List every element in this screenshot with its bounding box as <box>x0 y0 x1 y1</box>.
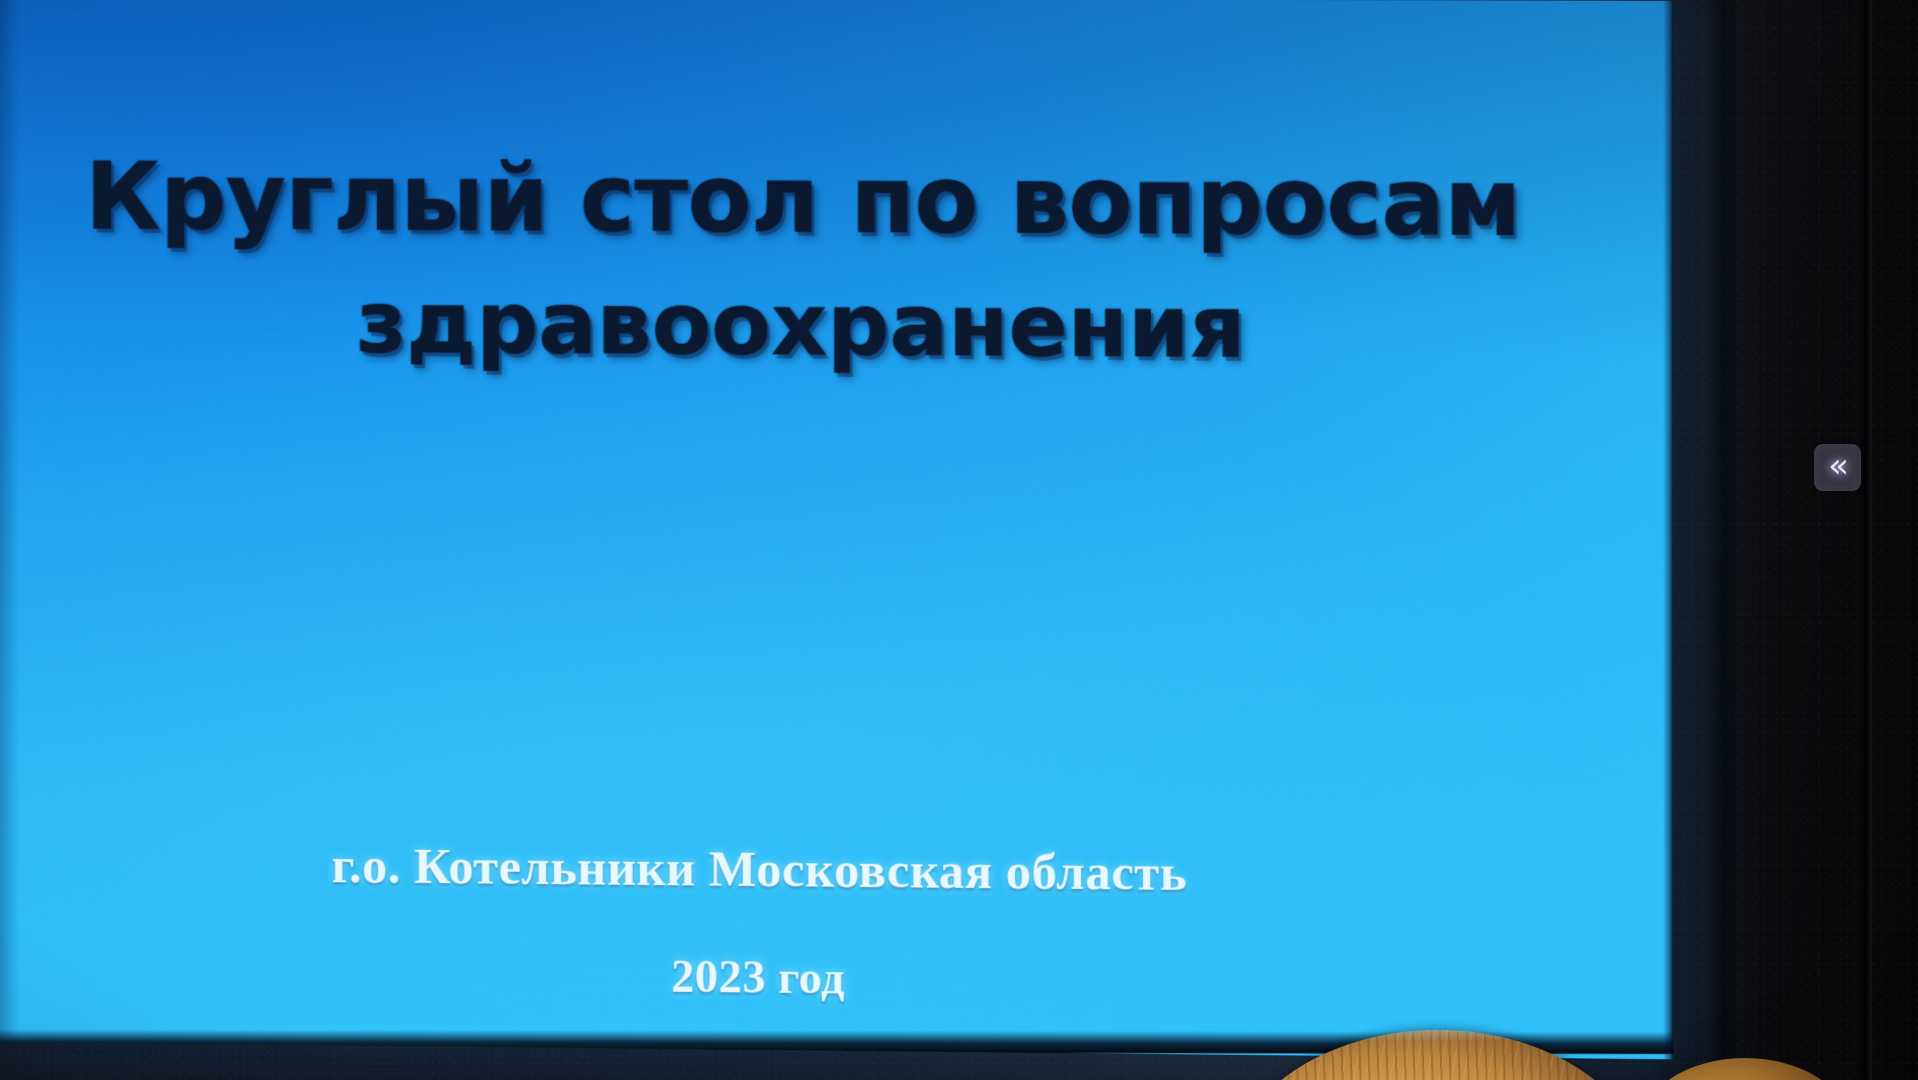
slide-subtitle: г.о. Котельники Московская область 2023 … <box>0 808 1530 1040</box>
slide-title-line-2: здравоохранения <box>0 259 1614 393</box>
projection-photo-scene: Круглый стол по вопросам здравоохранения… <box>0 0 1918 1080</box>
slide-title: Круглый стол по вопросам здравоохранения <box>0 134 1614 393</box>
projection-screen: Круглый стол по вопросам здравоохранения… <box>0 0 1673 1059</box>
collapse-panel-button[interactable]: « <box>1814 444 1861 491</box>
audience-head <box>1228 1030 1648 1080</box>
slide-content: Круглый стол по вопросам здравоохранения… <box>0 0 1673 1059</box>
double-chevron-left-icon: « <box>1828 449 1847 483</box>
slide-subtitle-year: 2023 год <box>0 916 1530 1040</box>
slide-title-line-1: Круглый стол по вопросам <box>0 134 1614 267</box>
presentation-slide: Круглый стол по вопросам здравоохранения… <box>0 0 1673 1059</box>
slide-subtitle-location: г.о. Котельники Московская область <box>0 808 1530 930</box>
wall-panel-seam-inner <box>1702 0 1736 1080</box>
hair-rim-light <box>1228 1030 1648 1041</box>
wall-panel-seam-outer <box>1858 0 1872 1080</box>
